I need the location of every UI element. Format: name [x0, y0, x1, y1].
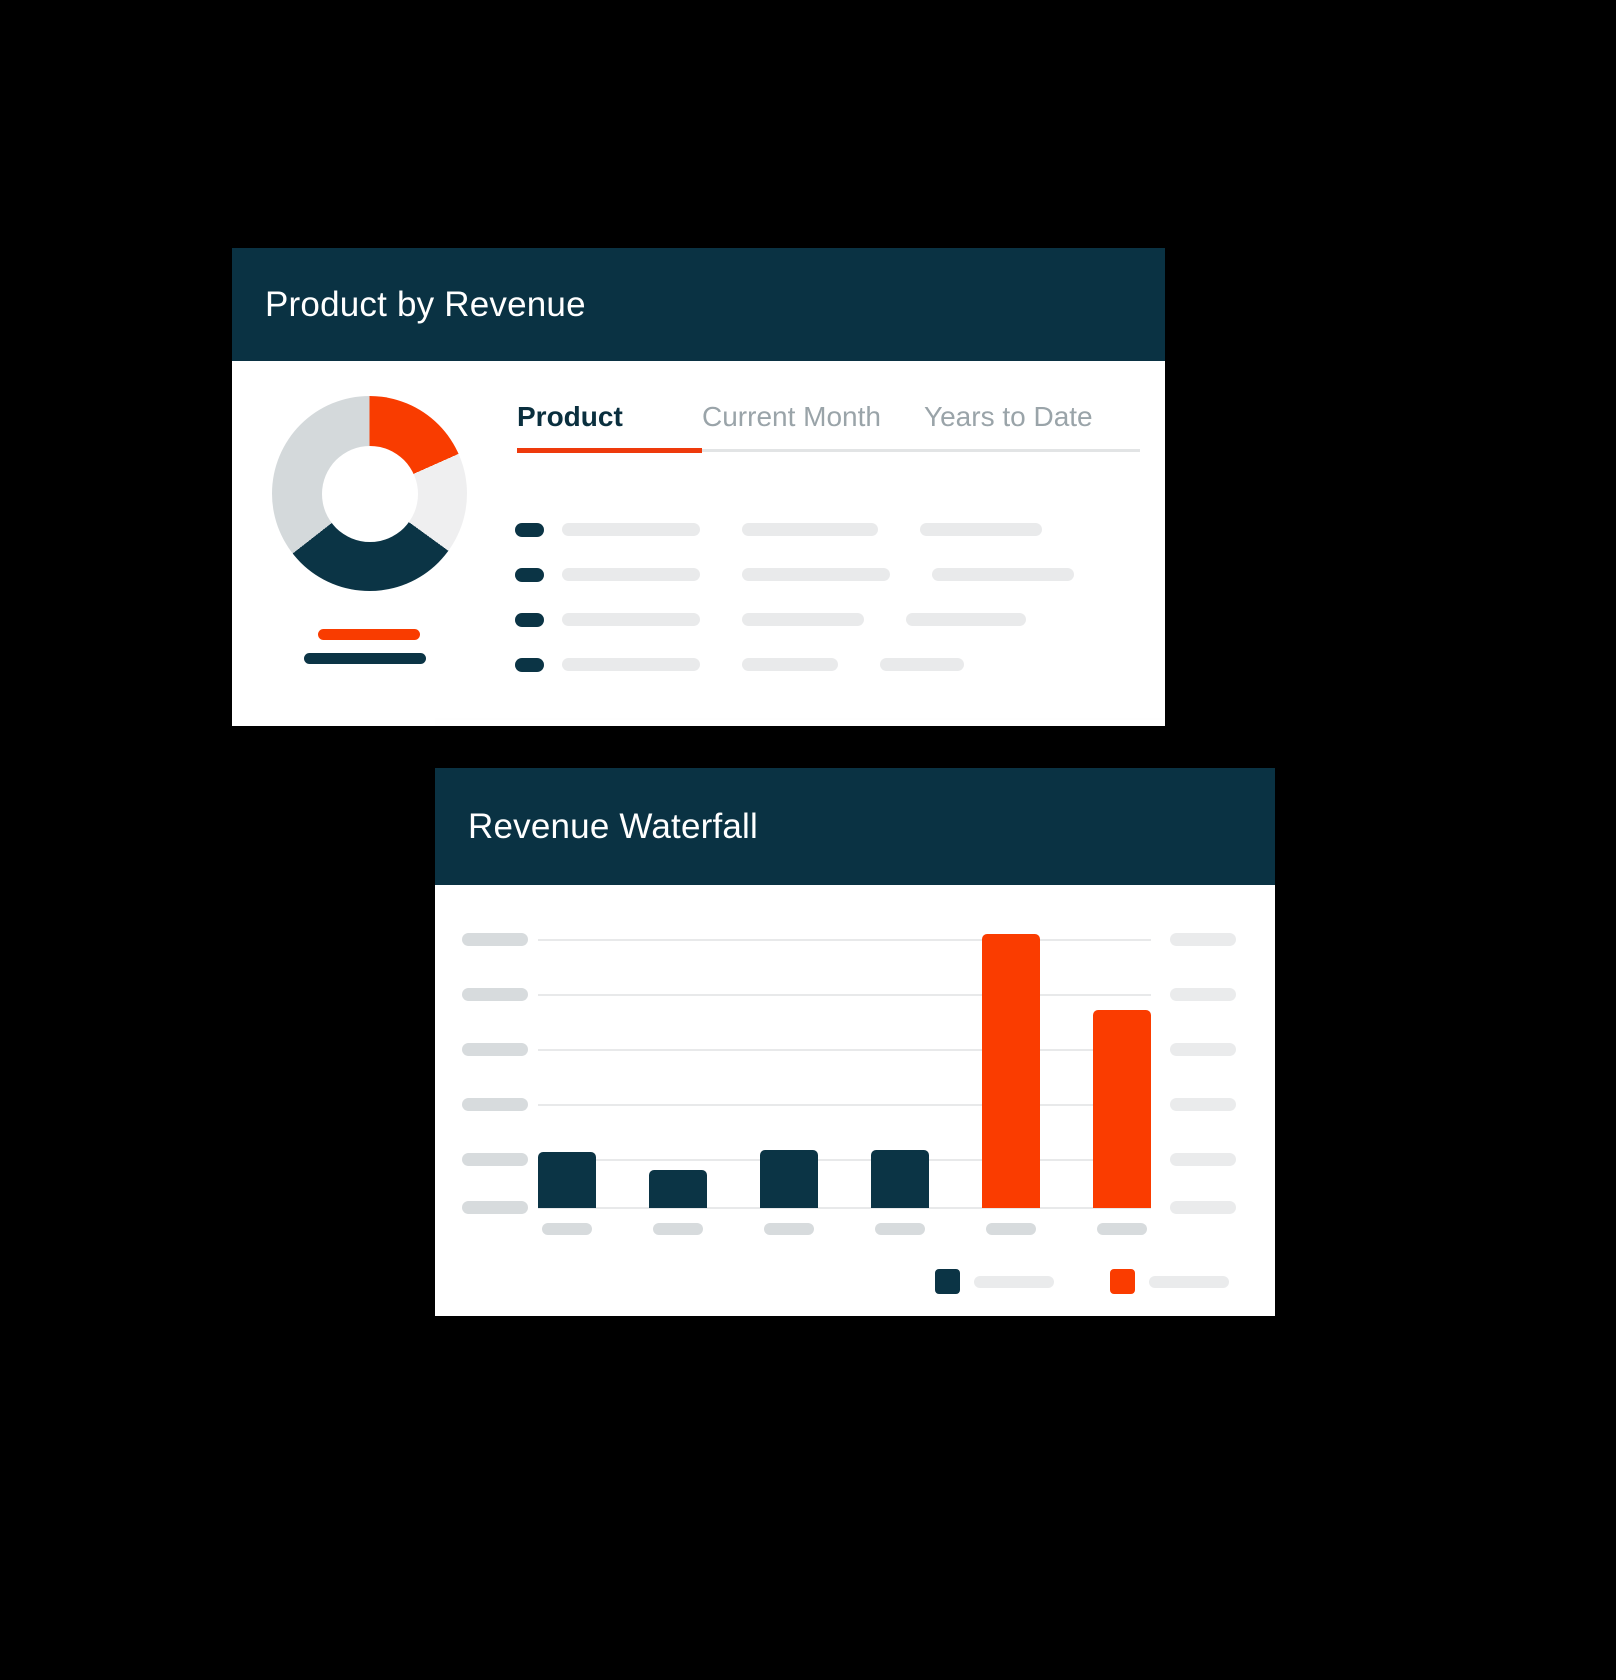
cell-years-to-date-placeholder	[906, 613, 1026, 626]
x-tick-label	[653, 1223, 703, 1235]
y-tick-label	[1170, 1098, 1236, 1111]
y-tick-label	[462, 988, 528, 1001]
cell-product-placeholder	[562, 568, 700, 581]
card-body-waterfall	[435, 885, 1275, 1316]
tab-current-month[interactable]: Current Month	[702, 403, 924, 449]
chart-legend	[935, 1269, 1229, 1294]
cell-years-to-date-placeholder	[932, 568, 1074, 581]
x-tick-slot	[1093, 1223, 1151, 1235]
y-tick-label	[462, 1153, 528, 1166]
card-body-product: Product Current Month Years to Date	[232, 361, 1165, 726]
cell-product-placeholder	[562, 613, 700, 626]
tab-underline-track	[517, 449, 1140, 452]
x-tick-label	[764, 1223, 814, 1235]
bar-3[interactable]	[760, 1150, 818, 1208]
tab-years-to-date[interactable]: Years to Date	[924, 403, 1093, 449]
card-header-product: Product by Revenue	[232, 248, 1165, 361]
y-tick-label	[462, 1043, 528, 1056]
dashboard-stage: Product by Revenue Product Current Month…	[0, 0, 1616, 1680]
x-tick-label	[542, 1223, 592, 1235]
donut-center-hole	[322, 446, 418, 542]
waterfall-chart[interactable]	[435, 885, 1275, 1316]
y-tick-label	[462, 1098, 528, 1111]
donut-legend-bar-navy	[304, 653, 426, 664]
y-tick-label	[462, 933, 528, 946]
cell-years-to-date-placeholder	[920, 523, 1042, 536]
x-tick-label	[986, 1223, 1036, 1235]
bar-6[interactable]	[1093, 1010, 1151, 1208]
legend-item-navy[interactable]	[935, 1269, 1054, 1294]
table-row[interactable]	[515, 597, 1140, 642]
legend-swatch-orange-icon	[1110, 1269, 1135, 1294]
y-tick-label	[1170, 1201, 1236, 1214]
bar-slot[interactable]	[982, 933, 1040, 1208]
x-tick-slot	[871, 1223, 929, 1235]
donut-legend	[304, 629, 426, 677]
tab-strip[interactable]: Product Current Month Years to Date	[517, 403, 1140, 452]
legend-item-orange[interactable]	[1110, 1269, 1229, 1294]
table-row[interactable]	[515, 552, 1140, 597]
legend-label-placeholder	[1149, 1276, 1229, 1288]
row-bullet-icon	[515, 568, 544, 582]
cell-years-to-date-placeholder	[880, 658, 964, 671]
y-tick-label	[462, 1201, 528, 1214]
card-title-waterfall: Revenue Waterfall	[468, 809, 758, 844]
x-tick-slot	[538, 1223, 596, 1235]
row-bullet-icon	[515, 658, 544, 672]
product-table-rows	[515, 507, 1140, 687]
bar-slot[interactable]	[649, 933, 707, 1208]
cell-product-placeholder	[562, 523, 700, 536]
bar-group	[538, 933, 1151, 1208]
row-bullet-icon	[515, 523, 544, 537]
x-tick-slot	[982, 1223, 1040, 1235]
x-tick-slot	[649, 1223, 707, 1235]
card-product-by-revenue[interactable]: Product by Revenue Product Current Month…	[232, 248, 1165, 726]
table-row[interactable]	[515, 507, 1140, 552]
cell-product-placeholder	[562, 658, 700, 671]
table-row[interactable]	[515, 642, 1140, 687]
y-tick-label	[1170, 988, 1236, 1001]
cell-current-month-placeholder	[742, 568, 890, 581]
row-bullet-icon	[515, 613, 544, 627]
bar-slot[interactable]	[760, 933, 818, 1208]
page-title: Product by Revenue	[265, 287, 586, 322]
bar-4[interactable]	[871, 1150, 929, 1208]
plot-area	[538, 933, 1151, 1208]
y-tick-label	[1170, 1153, 1236, 1166]
cell-current-month-placeholder	[742, 523, 878, 536]
y-tick-label	[1170, 933, 1236, 946]
cell-current-month-placeholder	[742, 613, 864, 626]
bar-1[interactable]	[538, 1152, 596, 1208]
cell-current-month-placeholder	[742, 658, 838, 671]
x-axis-labels	[538, 1223, 1151, 1235]
tab-active-indicator	[517, 448, 702, 453]
legend-label-placeholder	[974, 1276, 1054, 1288]
donut-legend-bar-orange	[318, 629, 420, 640]
tab-row: Product Current Month Years to Date	[517, 403, 1140, 449]
bar-slot[interactable]	[871, 933, 929, 1208]
card-header-waterfall: Revenue Waterfall	[435, 768, 1275, 885]
x-tick-slot	[760, 1223, 818, 1235]
bar-slot[interactable]	[1093, 933, 1151, 1208]
y-tick-label	[1170, 1043, 1236, 1056]
x-tick-label	[1097, 1223, 1147, 1235]
tab-product[interactable]: Product	[517, 403, 702, 449]
bar-slot[interactable]	[538, 933, 596, 1208]
bar-5[interactable]	[982, 934, 1040, 1208]
legend-swatch-navy-icon	[935, 1269, 960, 1294]
x-tick-label	[875, 1223, 925, 1235]
donut-chart[interactable]	[272, 396, 467, 591]
bar-2[interactable]	[649, 1170, 707, 1208]
card-revenue-waterfall[interactable]: Revenue Waterfall	[435, 768, 1275, 1316]
